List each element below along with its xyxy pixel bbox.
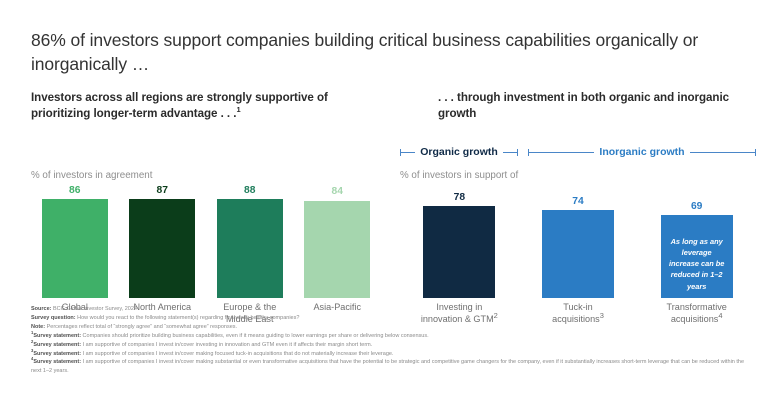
- bar-slot: 86: [31, 186, 119, 298]
- footnote-label: Survey question:: [31, 315, 76, 321]
- bar-value-label: 86: [69, 186, 80, 196]
- footnote-line: 4Survey statement: I am supportive of co…: [31, 358, 753, 376]
- footnote-text: Companies should prioritize building bus…: [81, 333, 429, 339]
- right-bar-chart: 787469As long as any leverage increase c…: [400, 186, 756, 298]
- right-chart-axis-caption: % of investors in support of: [400, 170, 518, 181]
- bar-value-label: 84: [332, 187, 343, 197]
- footnote-line: 1Survey statement: Companies should prio…: [31, 332, 753, 341]
- growth-band-organic-label: Organic growth: [420, 146, 498, 158]
- bar-slot: 88: [206, 186, 294, 298]
- bar-rect[interactable]: [423, 206, 495, 298]
- footnote-line: Note: Percentages reflect total of “stro…: [31, 323, 753, 332]
- footnote-label: Survey statement:: [33, 351, 81, 357]
- footnote-text: I am supportive of companies I invest in…: [81, 351, 393, 357]
- bar-value-label: 78: [454, 193, 465, 203]
- footnotes-block: Source: BCG Global Investor Survey, 2024…: [31, 305, 753, 376]
- growth-band-row: Organic growth Inorganic growth: [400, 142, 756, 162]
- bar-slot: 69As long as any leverage increase can b…: [637, 186, 756, 298]
- growth-band-organic: Organic growth: [400, 142, 518, 162]
- footnote-text: Percentages reflect total of “strongly a…: [45, 324, 237, 330]
- left-panel-subheading-text: Investors across all regions are strongl…: [31, 91, 328, 120]
- footnote-text: BCG Global Investor Survey, 2024: [51, 306, 137, 312]
- bar-rect[interactable]: [217, 199, 283, 298]
- footnote-label: Source:: [31, 306, 51, 312]
- right-panel-subheading: . . . through investment in both organic…: [438, 90, 748, 122]
- footnote-label: Survey statement:: [33, 333, 81, 339]
- footnote-label: Survey statement:: [33, 359, 81, 365]
- footnote-line: Survey question: How would you react to …: [31, 314, 753, 323]
- bar-rect[interactable]: [129, 199, 195, 298]
- bar-value-label: 74: [572, 197, 583, 207]
- bar-rect[interactable]: [42, 199, 108, 298]
- left-bar-chart-bars: 86878884: [31, 186, 381, 298]
- band-bracket-right-icon: [690, 152, 756, 153]
- bar-slot: 74: [519, 186, 638, 298]
- band-bracket-right-icon: [503, 152, 518, 153]
- footnote-line: 3Survey statement: I am supportive of co…: [31, 350, 753, 359]
- bar-value-label: 88: [244, 186, 255, 196]
- band-bracket-left-icon: [528, 152, 594, 153]
- left-panel-subheading-superscript: 1: [236, 105, 240, 114]
- growth-band-inorganic: Inorganic growth: [528, 142, 756, 162]
- right-bar-chart-bars: 787469As long as any leverage increase c…: [400, 186, 756, 298]
- growth-band-inorganic-label: Inorganic growth: [599, 146, 684, 158]
- bar-slot: 84: [294, 186, 382, 298]
- footnote-label: Survey statement:: [33, 342, 81, 348]
- footnote-text: I am supportive of companies I invest in…: [31, 359, 744, 374]
- footnote-text: How would you react to the following sta…: [76, 315, 300, 321]
- left-panel-subheading: Investors across all regions are strongl…: [31, 90, 381, 122]
- bar-rect[interactable]: As long as any leverage increase can be …: [661, 215, 733, 298]
- footnote-line: 2Survey statement: I am supportive of co…: [31, 341, 753, 350]
- page-title: 86% of investors support companies build…: [31, 28, 741, 76]
- slide-canvas: 86% of investors support companies build…: [0, 0, 768, 402]
- bar-value-label: 69: [691, 202, 702, 212]
- bar-value-label: 87: [157, 186, 168, 196]
- left-bar-chart: 86878884: [31, 186, 381, 298]
- bar-slot: 78: [400, 186, 519, 298]
- bar-slot: 87: [119, 186, 207, 298]
- footnote-line: Source: BCG Global Investor Survey, 2024: [31, 305, 753, 314]
- left-chart-axis-caption: % of investors in agreement: [31, 170, 152, 181]
- footnote-text: I am supportive of companies I invest in…: [81, 342, 372, 348]
- band-bracket-left-icon: [400, 152, 415, 153]
- bar-rect[interactable]: [542, 210, 614, 298]
- bar-inner-annotation: As long as any leverage increase can be …: [667, 236, 727, 292]
- bar-rect[interactable]: [304, 201, 370, 298]
